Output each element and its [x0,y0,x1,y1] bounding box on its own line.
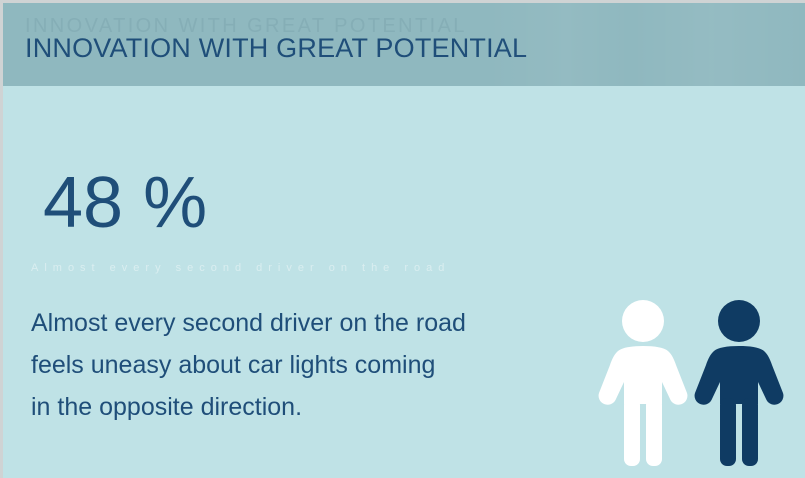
person-icon-light [595,298,691,468]
pictogram-group [591,298,801,473]
body-copy: Almost every second driver on the road f… [31,302,591,428]
stat-ghost-line: Almost every second driver on the road [31,261,501,275]
infographic-slide: INNOVATION WITH GREAT POTENTIAL INNOVATI… [0,0,805,478]
body-copy-line-3: in the opposite direction. [31,386,591,428]
page-title: INNOVATION WITH GREAT POTENTIAL [25,32,527,64]
body-copy-line-2: feels uneasy about car lights coming [31,344,591,386]
stat-value: 48 % [43,163,207,243]
body-copy-line-1: Almost every second driver on the road [31,302,591,344]
header-band: INNOVATION WITH GREAT POTENTIAL INNOVATI… [3,3,805,86]
person-icon-dark [691,298,787,468]
